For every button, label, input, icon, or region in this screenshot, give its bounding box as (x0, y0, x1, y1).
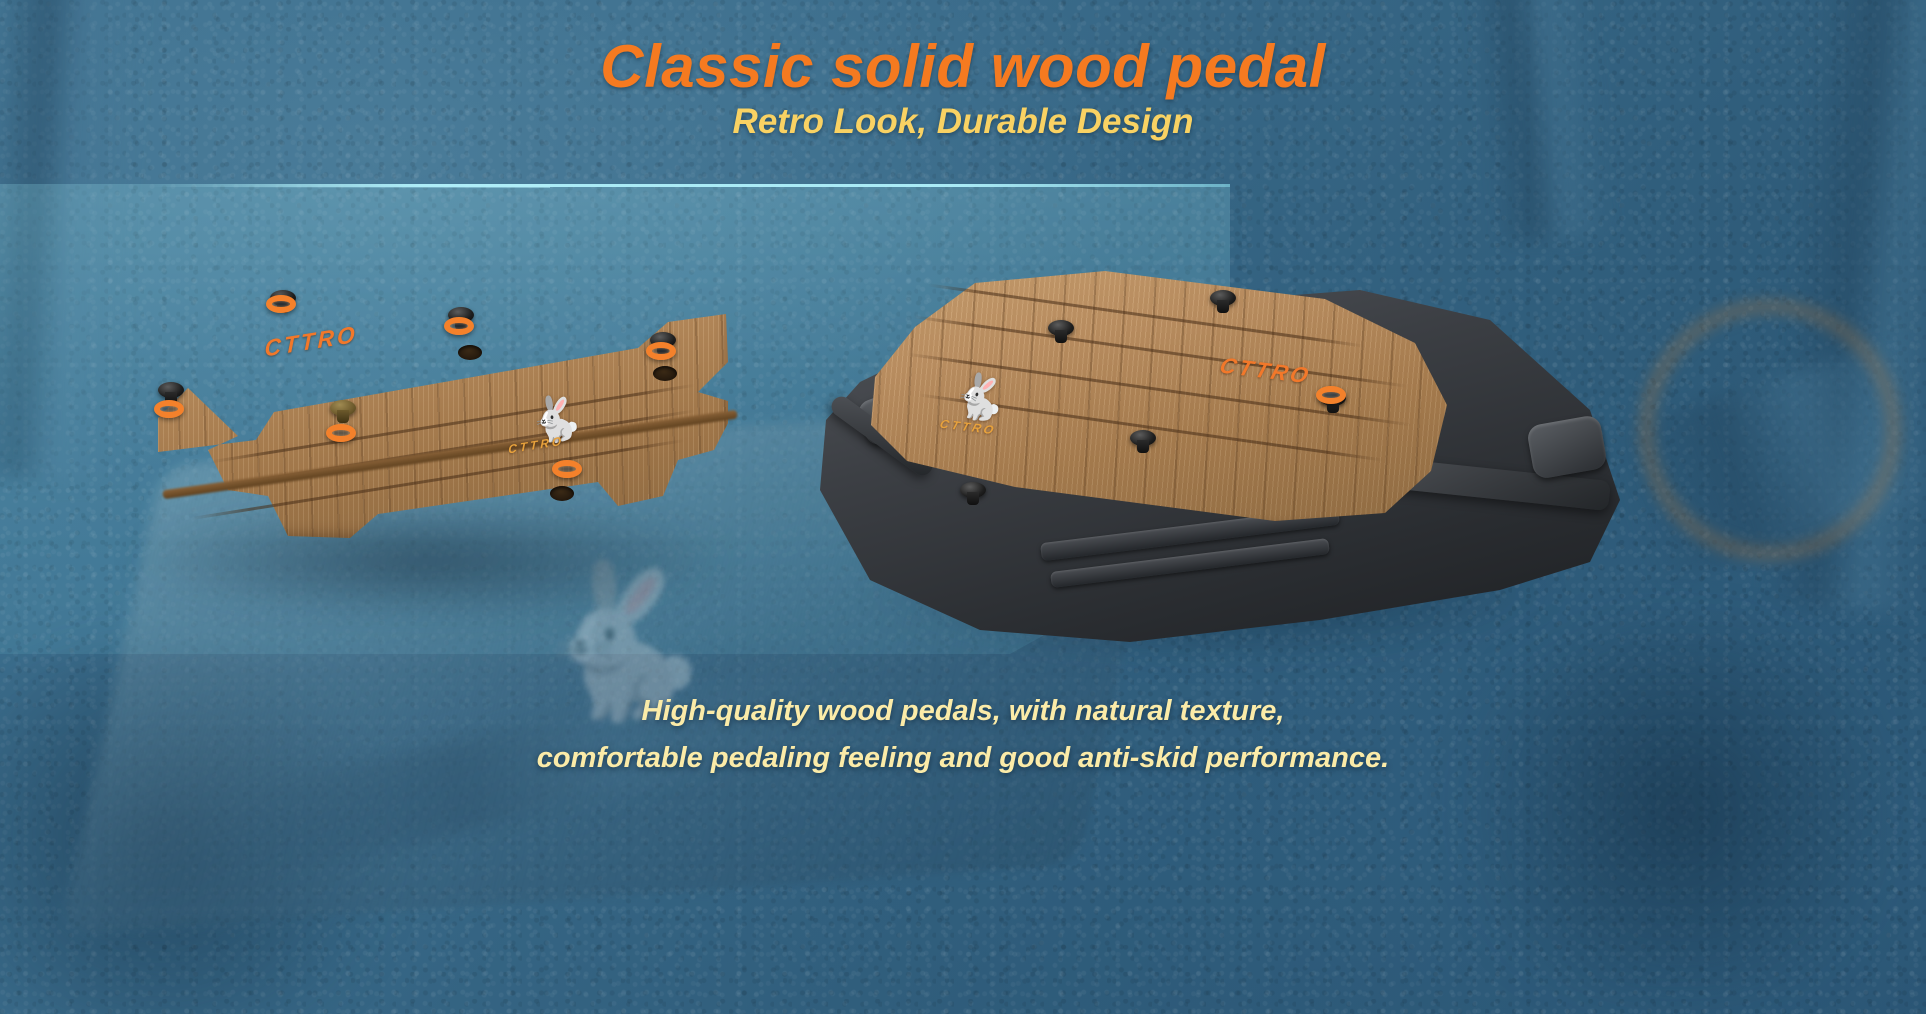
pedal-bolt-brass (330, 400, 356, 416)
banner-title: Classic solid wood pedal (0, 32, 1926, 101)
left-pedal-brand-text: CTTRO (264, 320, 358, 362)
pedal-washer (266, 295, 296, 313)
pedal-washer (326, 424, 356, 442)
pedal-washer (444, 317, 474, 335)
pedal-mount-hole (550, 486, 574, 501)
pedal-washer (154, 400, 184, 418)
background-wheel-ring (1640, 300, 1900, 560)
banner-subtitle: Retro Look, Durable Design (0, 102, 1926, 142)
pedal-bolt (158, 382, 184, 398)
right-pedal-product: CTTRO 🐇 CTTRO (800, 230, 1620, 650)
pedal-bolt (1130, 430, 1156, 446)
background-shadow-blob (1420, 620, 1926, 1000)
banner-description-line-1: High-quality wood pedals, with natural t… (0, 695, 1926, 728)
pedal-washer (552, 460, 582, 478)
pedal-washer (646, 342, 676, 360)
left-pedal-product: CTTRO 🐇 CTTRO (78, 300, 728, 540)
pedal-washer (1316, 386, 1346, 404)
pedal-bolt (960, 482, 986, 498)
pedal-mount-hole (653, 366, 677, 381)
pedal-bolt (1048, 320, 1074, 336)
product-banner: 🐇 CTTRO 🐇 CTTRO (0, 0, 1926, 1014)
banner-description-line-2: comfortable pedaling feeling and good an… (0, 742, 1926, 775)
pedal-mount-hole (458, 345, 482, 360)
lion-crest-icon: 🐇 (950, 373, 1010, 423)
pedal-bolt (1210, 290, 1236, 306)
